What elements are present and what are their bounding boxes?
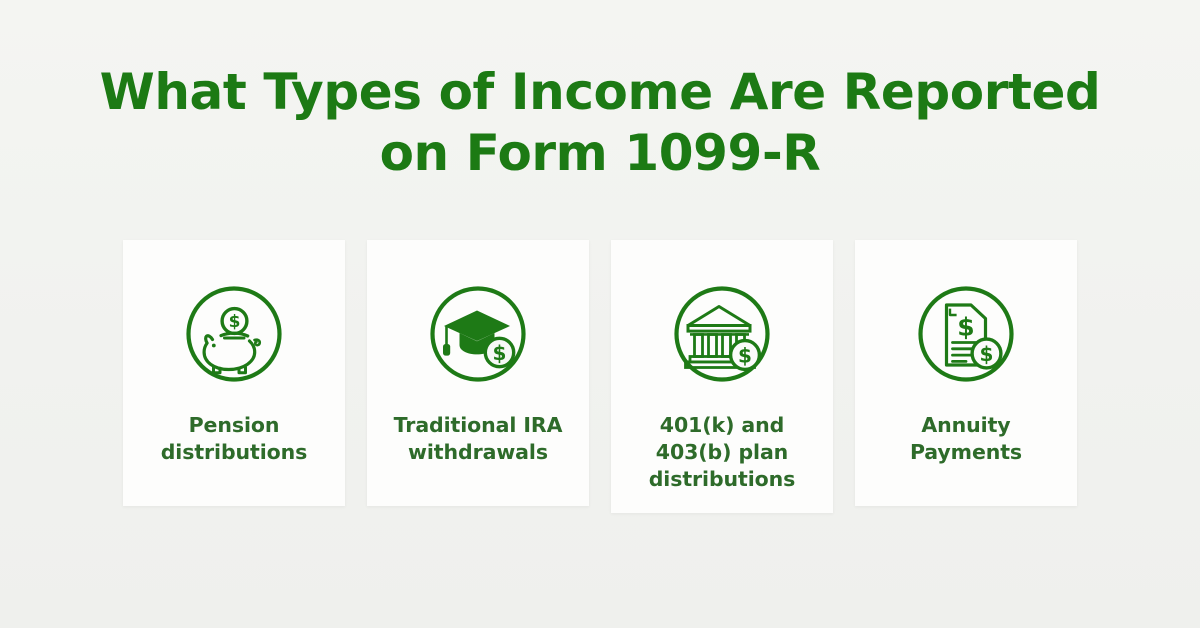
income-type-card-row: $ Pension distributions (123, 240, 1077, 513)
income-type-card-label: Pension distributions (155, 412, 314, 466)
svg-text:$: $ (738, 344, 752, 368)
income-type-card-401k-403b[interactable]: $ 401(k) and 403(b) plan distributions (611, 240, 833, 513)
income-type-card-label: 401(k) and 403(b) plan distributions (643, 412, 802, 493)
page-title-line-1: What Types of Income Are Reported (90, 62, 1110, 123)
income-type-card-label: Traditional IRA withdrawals (388, 412, 569, 466)
svg-text:$: $ (493, 341, 507, 365)
page-title-text: What Types of Income Are Reported on For… (0, 62, 1200, 184)
document-dollar-coin-icon: $ $ (914, 282, 1018, 386)
page-title: What Types of Income Are Reported on For… (0, 62, 1200, 184)
bank-building-coin-icon: $ (670, 282, 774, 386)
income-type-card-label: Annuity Payments (904, 412, 1028, 466)
income-type-card-annuity[interactable]: $ $ Annuity Payments (855, 240, 1077, 506)
piggy-bank-coin-icon: $ (182, 282, 286, 386)
svg-text:$: $ (957, 313, 974, 342)
graduation-cap-coin-icon: $ (426, 282, 530, 386)
infographic-canvas: What Types of Income Are Reported on For… (0, 0, 1200, 628)
svg-text:$: $ (980, 342, 994, 366)
page-title-line-2: on Form 1099-R (90, 123, 1110, 184)
income-type-card-pension[interactable]: $ Pension distributions (123, 240, 345, 506)
svg-text:$: $ (229, 312, 241, 332)
income-type-card-traditional-ira[interactable]: $ Traditional IRA withdrawals (367, 240, 589, 506)
